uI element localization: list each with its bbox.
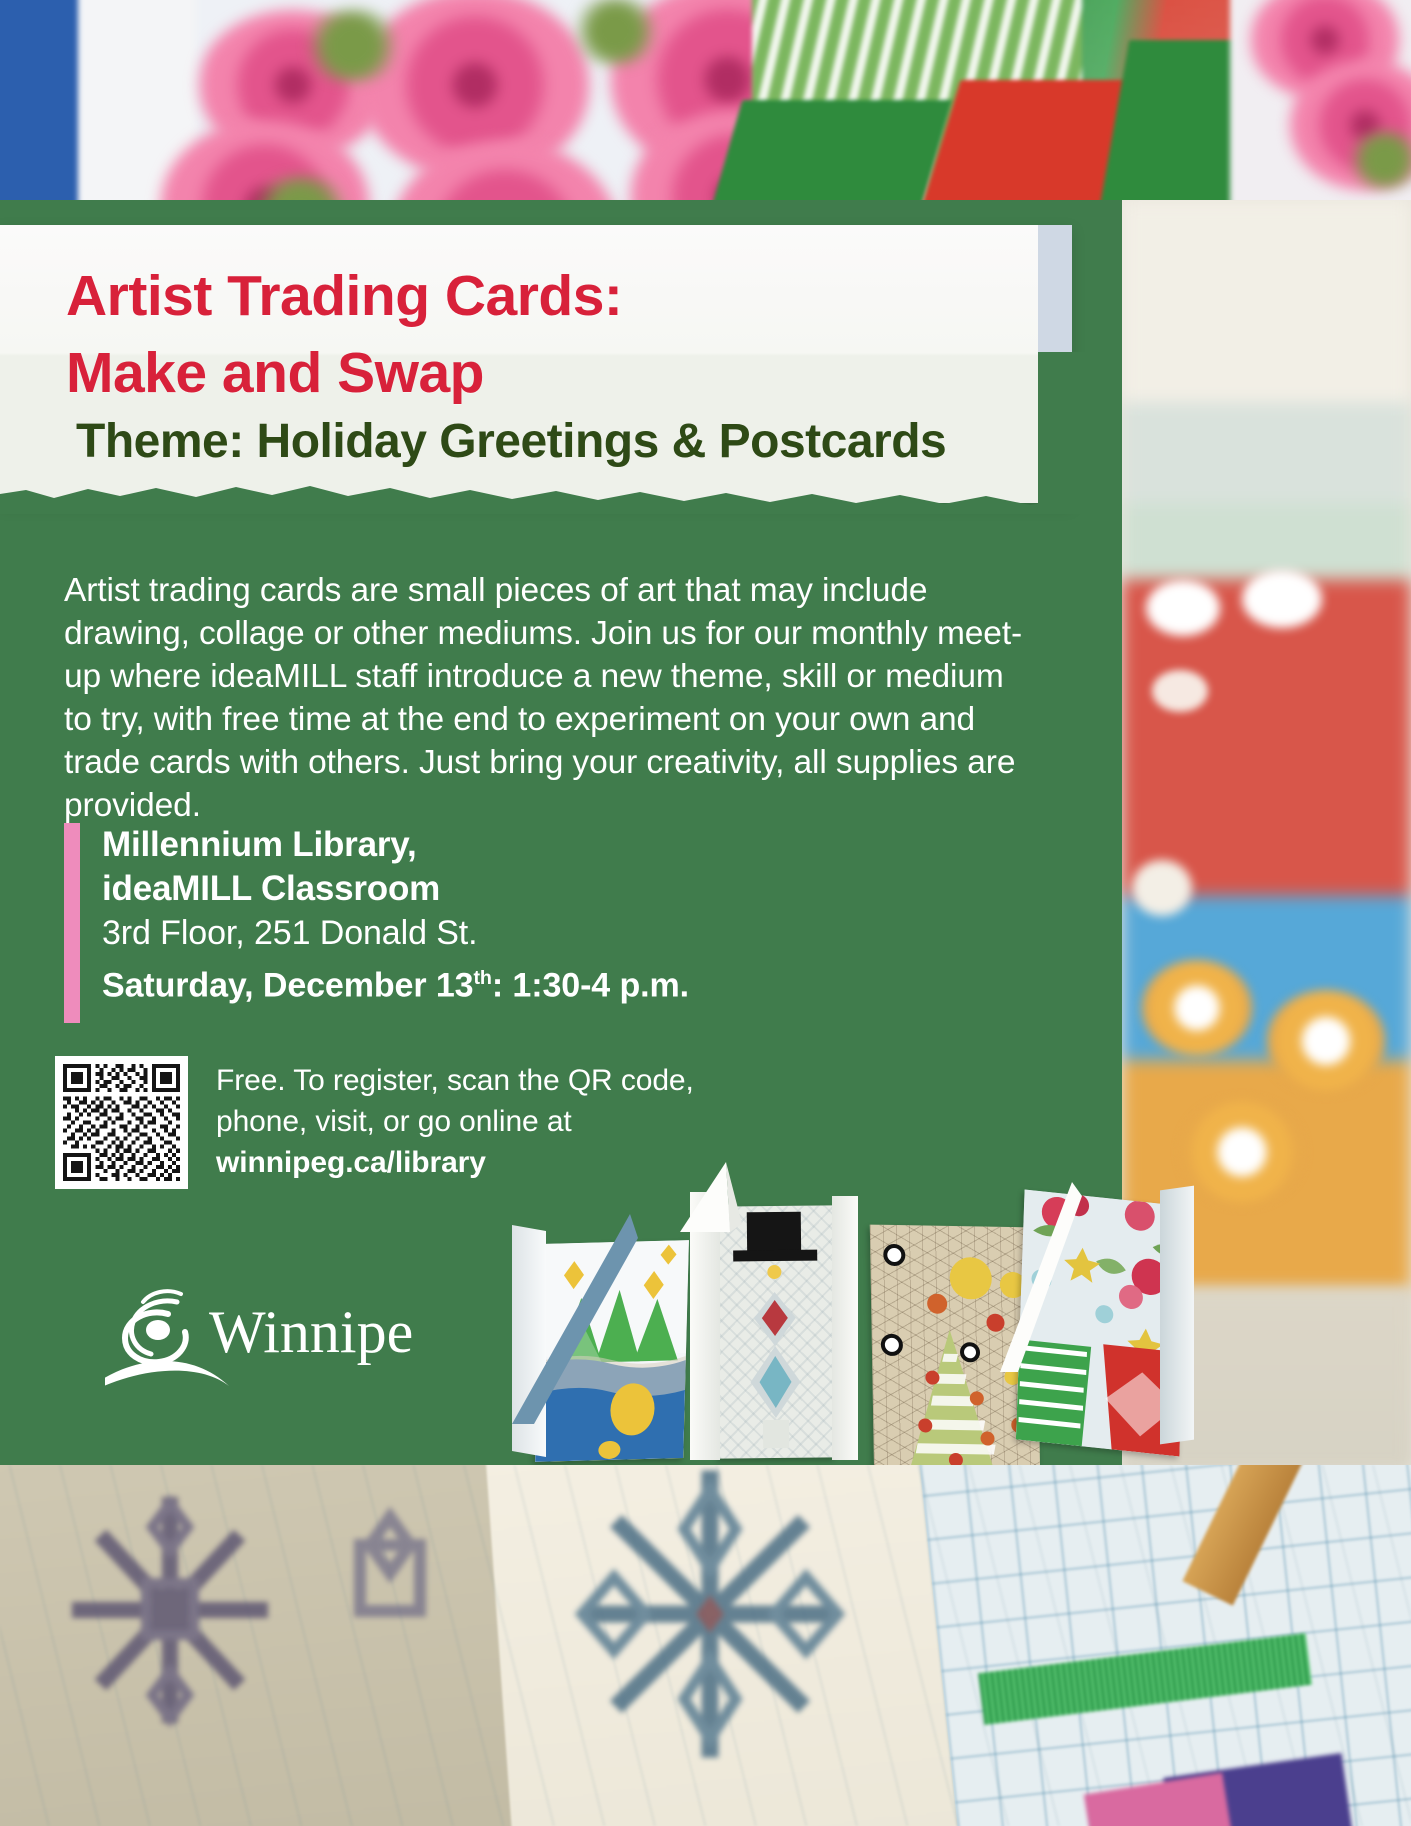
date-prefix: Saturday, December 13	[102, 966, 473, 1004]
card-snowman-open-top	[680, 1162, 760, 1232]
page-title: Artist Trading Cards: Make and Swap	[66, 258, 1026, 412]
event-date-time: Saturday, December 13th: 1:30-4 p.m.	[102, 956, 1002, 1008]
title-line-1: Artist Trading Cards:	[66, 258, 1026, 335]
register-line-1: Free. To register, scan the QR code,	[216, 1060, 836, 1101]
event-description: Artist trading cards are small pieces of…	[64, 569, 1024, 827]
card-snowman-flap-left	[690, 1192, 720, 1460]
card-teal-flap	[512, 1214, 692, 1424]
venue-name-line-2: ideaMILL Classroom	[102, 867, 1002, 911]
qr-code-svg	[63, 1064, 180, 1181]
snowflake-stencil-left	[60, 1485, 360, 1745]
title-line-2: Make and Swap	[66, 335, 1026, 412]
snowflake-stencil-small	[330, 1505, 470, 1665]
bottom-photo-snowflake-stencils	[0, 1465, 1411, 1826]
poster: Artist Trading Cards: Make and Swap Them…	[0, 0, 1411, 1826]
date-ordinal-suffix: th	[473, 967, 491, 989]
handmade-cards-collage	[520, 1178, 1180, 1468]
venue-details: Millennium Library, ideaMILL Classroom 3…	[64, 823, 1002, 1008]
winnipeg-wordmark: Winnipeg	[209, 1299, 415, 1365]
torn-paper-edge-top	[0, 214, 1122, 236]
card-snowman-flap-right	[832, 1196, 858, 1460]
top-photo-greeting-cards	[0, 0, 1411, 232]
theme-subtitle: Theme: Holiday Greetings & Postcards	[76, 413, 1056, 471]
card-white-flap-right	[1000, 1182, 1120, 1372]
date-suffix: : 1:30-4 p.m.	[492, 966, 689, 1004]
torn-paper-edge-bottom	[0, 480, 1122, 514]
register-line-2: phone, visit, or go online at	[216, 1101, 836, 1142]
card-snowman	[717, 1205, 836, 1458]
winnipeg-logo: Winnipeg	[105, 1278, 415, 1388]
card-floral-flap	[1160, 1186, 1194, 1445]
venue-address: 3rd Floor, 251 Donald St.	[102, 911, 1002, 956]
venue-name-line-1: Millennium Library,	[102, 823, 1002, 867]
snowflake-stencil-center	[560, 1469, 900, 1769]
qr-code-icon[interactable]	[55, 1056, 188, 1189]
